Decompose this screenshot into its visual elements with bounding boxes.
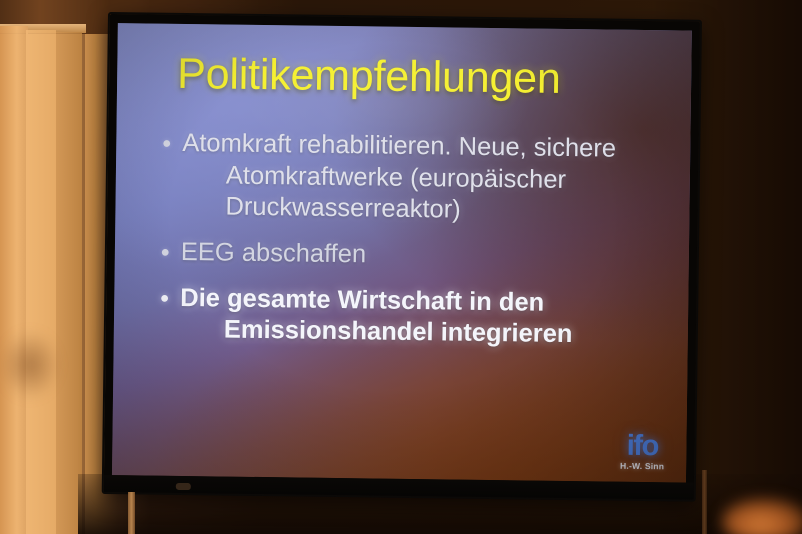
ifo-wordmark: ifo [620, 431, 664, 461]
bullet-item-eeg: • EEG abschaffen [161, 236, 673, 275]
bullet-item-atomkraft: • Atomkraft rehabilitieren. Neue, sicher… [161, 128, 674, 229]
wall-panel-middle [26, 30, 56, 534]
bullet-point-icon: • [161, 236, 181, 268]
bullet-point-icon: • [162, 128, 182, 160]
ifo-logo: ifo H.-W. Sinn [620, 431, 665, 470]
wall-seam [82, 34, 85, 534]
bullet-text-atomkraft: Atomkraft rehabilitieren. Neue, sichere … [181, 128, 674, 229]
wall-panel-left [0, 26, 28, 534]
screen-support-post-left [128, 492, 135, 534]
bullet-item-emissionshandel: • Die gesamte Wirtschaft in den Emission… [160, 282, 673, 352]
ambient-light-glow [0, 330, 60, 400]
bullet-text-eeg: EEG abschaffen [181, 236, 673, 274]
slide-bullet-list: • Atomkraft rehabilitieren. Neue, sicher… [160, 128, 675, 354]
screen-bezel-latch [176, 483, 191, 490]
screen-support-post-right [702, 470, 707, 534]
slide-title: Politikempfehlungen [177, 50, 561, 104]
slide: Politikempfehlungen • Atomkraft rehabili… [112, 23, 692, 482]
bullet-point-icon: • [160, 282, 180, 314]
projection-screen-surface: Politikempfehlungen • Atomkraft rehabili… [112, 23, 692, 482]
screenshot-stage: Politikempfehlungen • Atomkraft rehabili… [0, 0, 802, 534]
projection-screen-frame: Politikempfehlungen • Atomkraft rehabili… [104, 14, 700, 500]
bullet-line: EEG abschaffen [181, 236, 673, 274]
bullet-text-emissionshandel: Die gesamte Wirtschaft in den Emissionsh… [180, 282, 673, 351]
ifo-logo-subtitle: H.-W. Sinn [620, 461, 664, 470]
bullet-line: Emissionshandel integrieren [180, 314, 672, 352]
bullet-line: Druckwasserreaktor) [181, 191, 673, 229]
blurred-person-silhouette [722, 498, 802, 534]
wall-panel-right [56, 32, 82, 534]
